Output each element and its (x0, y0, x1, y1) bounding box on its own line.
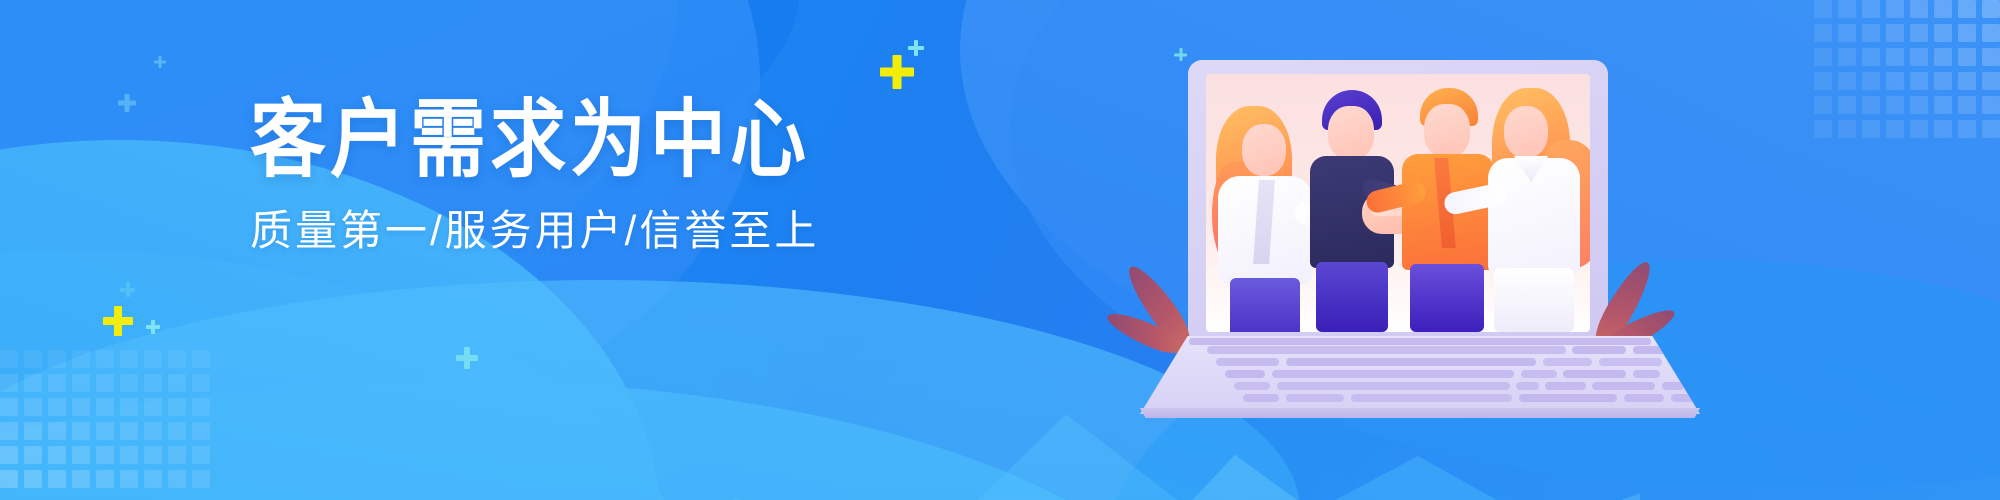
grid-dot (168, 470, 186, 488)
keyboard-key (1633, 346, 1687, 354)
skirt-right (1494, 268, 1574, 332)
face-right (1504, 106, 1548, 158)
grid-dot (168, 350, 186, 368)
grid-dot (48, 374, 66, 392)
grid-dot (1814, 96, 1832, 114)
grid-dot (1934, 48, 1952, 66)
grid-dot (96, 422, 114, 440)
grid-dot (168, 374, 186, 392)
grid-dot (48, 350, 66, 368)
grid-dot (1838, 24, 1856, 42)
bg-wave-left-light-outer (0, 250, 690, 500)
grid-dot (1910, 120, 1928, 138)
grid-dot (24, 350, 42, 368)
grid-dot (72, 350, 90, 368)
keyboard-key (1693, 346, 1747, 354)
grid-dot (144, 446, 162, 464)
keyboard-key (1633, 370, 1660, 378)
laptop-team-illustration (1140, 60, 1700, 460)
grid-dot (24, 374, 42, 392)
grid-dot (72, 374, 90, 392)
keyboard-key (1272, 370, 1514, 378)
grid-dot (168, 398, 186, 416)
grid-dot (1934, 0, 1952, 18)
trousers-orange-man (1410, 264, 1484, 332)
keyboard-key (1592, 382, 1655, 390)
trousers-left (1230, 278, 1300, 332)
grid-dot (192, 350, 210, 368)
grid-dot (1910, 48, 1928, 66)
laptop-lid (1188, 60, 1608, 340)
keyboard-key (1572, 346, 1626, 354)
face-navy-man (1328, 106, 1374, 160)
grid-dot (1958, 96, 1976, 114)
grid-dot (48, 422, 66, 440)
plus-faint-cyan-mid-icon (154, 56, 166, 68)
grid-dot (1910, 96, 1928, 114)
laptop-base-lip (1140, 408, 1700, 418)
grid-dot (1814, 72, 1832, 90)
grid-dot (1838, 48, 1856, 66)
grid-dot (24, 470, 42, 488)
grid-dot (1886, 120, 1904, 138)
keyboard-key (1599, 358, 1662, 366)
grid-dot (1982, 72, 2000, 90)
grid-dot (72, 422, 90, 440)
grid-dot (168, 422, 186, 440)
grid-dot (24, 422, 42, 440)
grid-dot (1886, 0, 1904, 18)
grid-dot (120, 350, 138, 368)
grid-dot (1934, 24, 1952, 42)
keyboard-key (1351, 394, 1512, 402)
keyboard-key (1207, 346, 1565, 354)
keyboard-key (1563, 370, 1626, 378)
keyboard-key (1543, 358, 1592, 366)
grid-dot (120, 374, 138, 392)
grid-dot (192, 398, 210, 416)
grid-dot (48, 398, 66, 416)
keyboard-key (1545, 382, 1585, 390)
grid-dot (48, 446, 66, 464)
laptop-keyboard-base (1140, 336, 1700, 414)
grid-dot (24, 446, 42, 464)
grid-dot (96, 350, 114, 368)
banner-headline: 客户需求为中心 (250, 96, 890, 186)
keyboard-key (1624, 394, 1664, 402)
grid-dot (192, 470, 210, 488)
grid-dot (120, 446, 138, 464)
grid-dot (1862, 72, 1880, 90)
grid-dot (1862, 0, 1880, 18)
grid-dot (72, 470, 90, 488)
grid-dot (72, 398, 90, 416)
grid-dot (1862, 120, 1880, 138)
grid-dot (192, 422, 210, 440)
grid-dot (1982, 0, 2000, 18)
grid-dot (1814, 24, 1832, 42)
grid-dot (144, 374, 162, 392)
grid-dot (1838, 0, 1856, 18)
keyboard-key (1671, 394, 1734, 402)
grid-dot (1862, 96, 1880, 114)
keyboard-top-bar (1189, 338, 1650, 345)
keyboard-key (1243, 394, 1279, 402)
grid-dot (1886, 96, 1904, 114)
grid-dot (1838, 120, 1856, 138)
plus-cyan-faint-low-icon (120, 282, 135, 297)
face-left (1242, 124, 1286, 176)
grid-dot (144, 470, 162, 488)
grid-dot (120, 422, 138, 440)
keyboard-key (1516, 382, 1538, 390)
grid-dot (120, 398, 138, 416)
grid-dot (96, 398, 114, 416)
grid-dot (1934, 96, 1952, 114)
grid-dot (1910, 72, 1928, 90)
grid-dot (144, 398, 162, 416)
plus-faint-cyan-left-icon (118, 94, 136, 112)
keyboard-key (1662, 382, 1684, 390)
grid-dot (0, 350, 18, 368)
grid-dot (96, 446, 114, 464)
grid-dot (192, 446, 210, 464)
keyboard-key (1216, 358, 1279, 366)
grid-dot (1934, 120, 1952, 138)
plus-medium-yellow-bottom-icon (103, 306, 133, 336)
grid-dot (1886, 72, 1904, 90)
keyboard-key (1669, 358, 1696, 366)
keyboard-key (1521, 370, 1557, 378)
grid-dot (1958, 0, 1976, 18)
grid-dot (1862, 24, 1880, 42)
grid-dot (120, 470, 138, 488)
grid-dot (96, 470, 114, 488)
plus-small-cyan-bottom-icon (146, 320, 160, 334)
plus-small-cyan-top-icon (908, 40, 924, 56)
grid-dot (1862, 48, 1880, 66)
grid-dot (1814, 0, 1832, 18)
dot-grid-bottom-left (0, 350, 220, 500)
grid-dot (1910, 24, 1928, 42)
dot-grid-top-right (1810, 0, 2000, 150)
banner-copy: 客户需求为中心 质量第一/服务用户/信誉至上 (250, 96, 890, 255)
keyboard-key (1754, 346, 1808, 354)
grid-dot (1982, 24, 2000, 42)
bg-wave-bottom-sweep (0, 280, 1300, 500)
laptop-screen (1206, 74, 1590, 332)
grid-dot (168, 446, 186, 464)
grid-dot (0, 446, 18, 464)
grid-dot (1958, 72, 1976, 90)
grid-dot (1982, 48, 2000, 66)
grid-dot (1838, 96, 1856, 114)
grid-dot (1934, 72, 1952, 90)
grid-dot (1982, 96, 2000, 114)
keyboard-key (1277, 382, 1510, 390)
grid-dot (1958, 48, 1976, 66)
grid-dot (96, 374, 114, 392)
grid-dot (1886, 24, 1904, 42)
keyboard-key (1519, 394, 1618, 402)
grid-dot (0, 374, 18, 392)
keyboard-key (1286, 358, 1537, 366)
grid-dot (48, 470, 66, 488)
grid-dot (1838, 72, 1856, 90)
grid-dot (1886, 48, 1904, 66)
plus-cyan-center-bottom-icon (456, 347, 478, 369)
person-woman-right (1478, 84, 1590, 332)
plus-large-yellow-icon (880, 55, 914, 89)
grid-dot (1958, 24, 1976, 42)
grid-dot (1958, 120, 1976, 138)
grid-dot (192, 374, 210, 392)
grid-dot (72, 446, 90, 464)
face-orange-man (1424, 104, 1470, 158)
keyboard-key (1234, 382, 1270, 390)
promo-banner: 客户需求为中心 质量第一/服务用户/信誉至上 (0, 0, 2000, 500)
grid-dot (0, 398, 18, 416)
keyboard-key (1740, 394, 1762, 402)
trousers-navy (1316, 262, 1388, 332)
grid-dot (0, 422, 18, 440)
keyboard-key (1225, 370, 1265, 378)
grid-dot (1910, 0, 1928, 18)
grid-dot (1814, 48, 1832, 66)
bg-wave-bottom-light (0, 380, 1200, 500)
grid-dot (1982, 120, 2000, 138)
grid-dot (1814, 120, 1832, 138)
grid-dot (144, 350, 162, 368)
keyboard-key (1286, 394, 1344, 402)
grid-dot (24, 398, 42, 416)
grid-dot (144, 422, 162, 440)
banner-subline: 质量第一/服务用户/信誉至上 (250, 207, 890, 255)
grid-dot (0, 470, 18, 488)
